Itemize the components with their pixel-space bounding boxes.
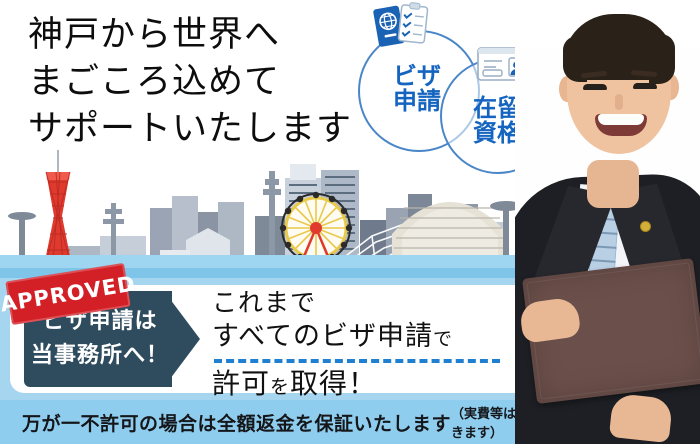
businessman-photo <box>515 0 700 444</box>
copy-line-3-tail: 取得！ <box>290 367 377 400</box>
neck <box>587 160 639 208</box>
guarantee-bar: 万が一不許可の場合は全額返金を保証いたします （実費等は除きます） <box>0 400 540 444</box>
cta-line-2: 当事務所へ！ <box>24 339 176 373</box>
achievement-copy-block: これまで すべてのビザ申請で 許可を取得！ <box>212 286 532 406</box>
copy-line-3-main: 許可 <box>212 367 270 400</box>
guarantee-text: 万が一不許可の場合は全額返金を保証いたします <box>0 409 451 436</box>
eye-right <box>633 83 657 89</box>
gold-lapel-pin <box>641 222 650 231</box>
headline-block: 神戸から世界へ まごころ込めて サポートいたします <box>28 12 398 153</box>
smiling-mouth <box>595 114 647 136</box>
copy-line-2: すべてのビザ申請で <box>212 319 532 357</box>
nose <box>615 94 623 110</box>
copy-line-1: これまで <box>212 286 532 319</box>
copy-line-3-particle: を <box>270 376 290 398</box>
eye-left <box>583 84 607 90</box>
clipboard-checklist-icon <box>398 2 428 43</box>
visa-service-banner: 神戸から世界へ まごころ込めて サポートいたします ビザ 申請 在留 資格 <box>0 0 700 444</box>
teeth <box>598 114 644 125</box>
copy-line-2-suffix: で <box>433 328 453 350</box>
copy-line-2-main: すべてのビザ申請 <box>212 321 433 352</box>
headline-line-1: 神戸から世界へ <box>28 12 398 59</box>
headline-line-2: まごころ込めて <box>28 59 398 106</box>
dashed-underline <box>214 359 500 363</box>
headline-line-3: サポートいたします <box>28 106 398 153</box>
